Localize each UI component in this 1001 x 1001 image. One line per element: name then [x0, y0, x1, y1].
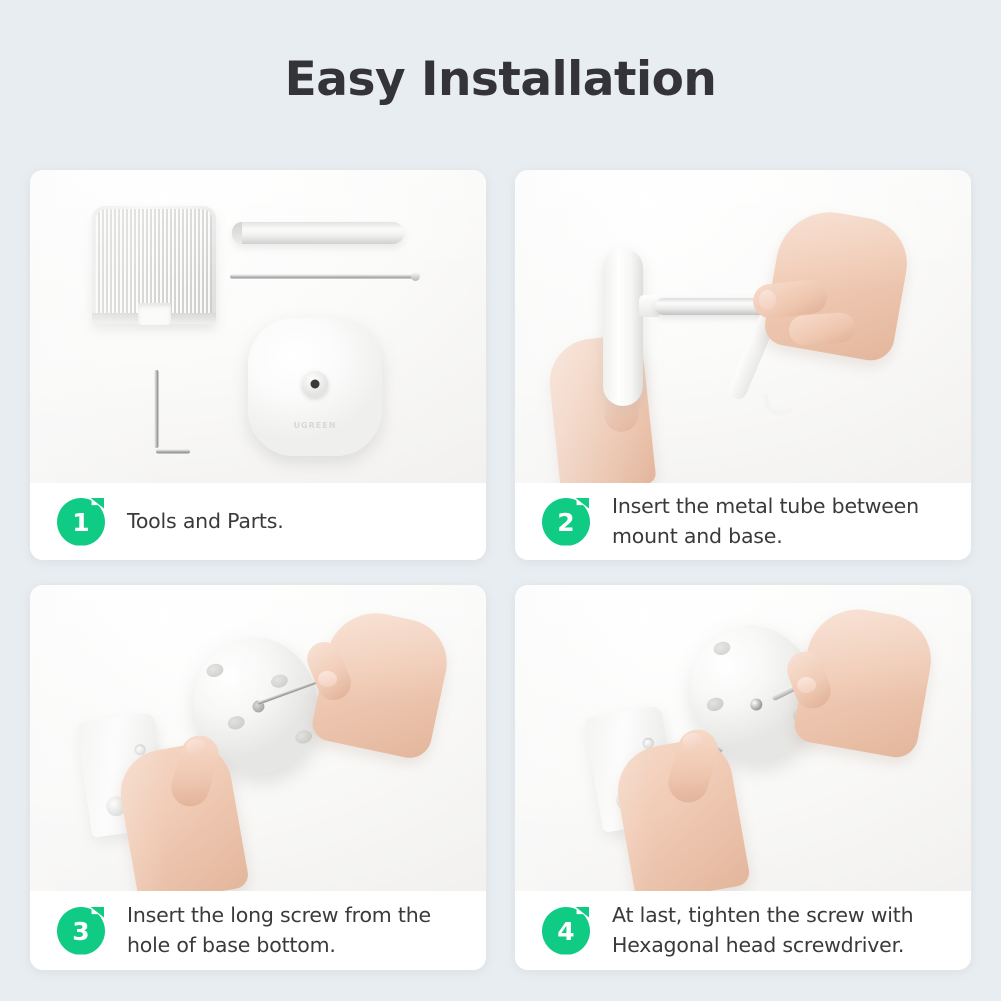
step-4-caption: 4 At last, tighten the screw with Hexago…	[515, 891, 971, 970]
step-badge-2: 2	[542, 498, 590, 546]
step-number: 3	[57, 907, 105, 955]
rubber-pad	[712, 640, 732, 657]
step-card-1: UGREEN 1 Tools and Parts.	[30, 170, 486, 560]
right-index-nail	[759, 290, 776, 310]
step-4-photo	[515, 585, 971, 891]
rubber-pad	[270, 673, 290, 690]
screw-head-seated	[749, 697, 764, 712]
step-1-caption: 1 Tools and Parts.	[30, 483, 486, 560]
base-plate-part: UGREEN	[248, 318, 382, 456]
ugreen-logo: UGREEN	[248, 421, 382, 430]
cradle-notch	[138, 303, 171, 325]
base-plate-held	[603, 248, 643, 406]
left-index-nail	[683, 733, 703, 749]
page-title: Easy Installation	[0, 52, 1001, 107]
step-1-photo: UGREEN	[30, 170, 486, 483]
rubber-pad	[294, 729, 314, 746]
rubber-pad	[205, 662, 225, 679]
step-3-photo	[30, 585, 486, 891]
base-center-hole	[311, 380, 320, 389]
mount-hook	[763, 390, 793, 419]
step-2-photo	[515, 170, 971, 483]
right-thumb-nail	[797, 677, 816, 693]
step-3-caption: 3 Insert the long screw from the hole of…	[30, 891, 486, 970]
step-card-4: 4 At last, tighten the screw with Hexago…	[515, 585, 971, 970]
tablet-cradle-part	[92, 206, 216, 324]
step-2-caption: 2 Insert the metal tube between mount an…	[515, 483, 971, 560]
tube-end-cap	[232, 222, 242, 244]
long-screw-part	[230, 274, 416, 279]
rubber-pad	[226, 714, 246, 731]
installation-steps-grid: UGREEN 1 Tools and Parts.	[30, 170, 971, 970]
screw-head	[411, 272, 420, 281]
right-thumb-nail	[318, 671, 337, 687]
step-card-3: 3 Insert the long screw from the hole of…	[30, 585, 486, 970]
step-number: 4	[542, 907, 590, 955]
rubber-pad	[705, 696, 725, 713]
step-caption-text: Insert the metal tube between mount and …	[612, 492, 919, 550]
step-number: 1	[57, 498, 105, 546]
step-caption-text: Insert the long screw from the hole of b…	[127, 901, 431, 959]
step-number: 2	[542, 498, 590, 546]
step-badge-4: 4	[542, 907, 590, 955]
right-middle-finger	[788, 312, 856, 347]
step-caption-text: Tools and Parts.	[127, 507, 284, 536]
step-caption-text: At last, tighten the screw with Hexagona…	[612, 901, 913, 959]
hex-key-shaft	[154, 370, 159, 448]
hex-key-part	[154, 370, 194, 454]
step-badge-3: 3	[57, 907, 105, 955]
step-card-2: 2 Insert the metal tube between mount an…	[515, 170, 971, 560]
metal-tube-part	[232, 222, 404, 244]
step-badge-1: 1	[57, 498, 105, 546]
hex-key-foot	[156, 449, 190, 454]
left-index-nail	[186, 739, 206, 755]
